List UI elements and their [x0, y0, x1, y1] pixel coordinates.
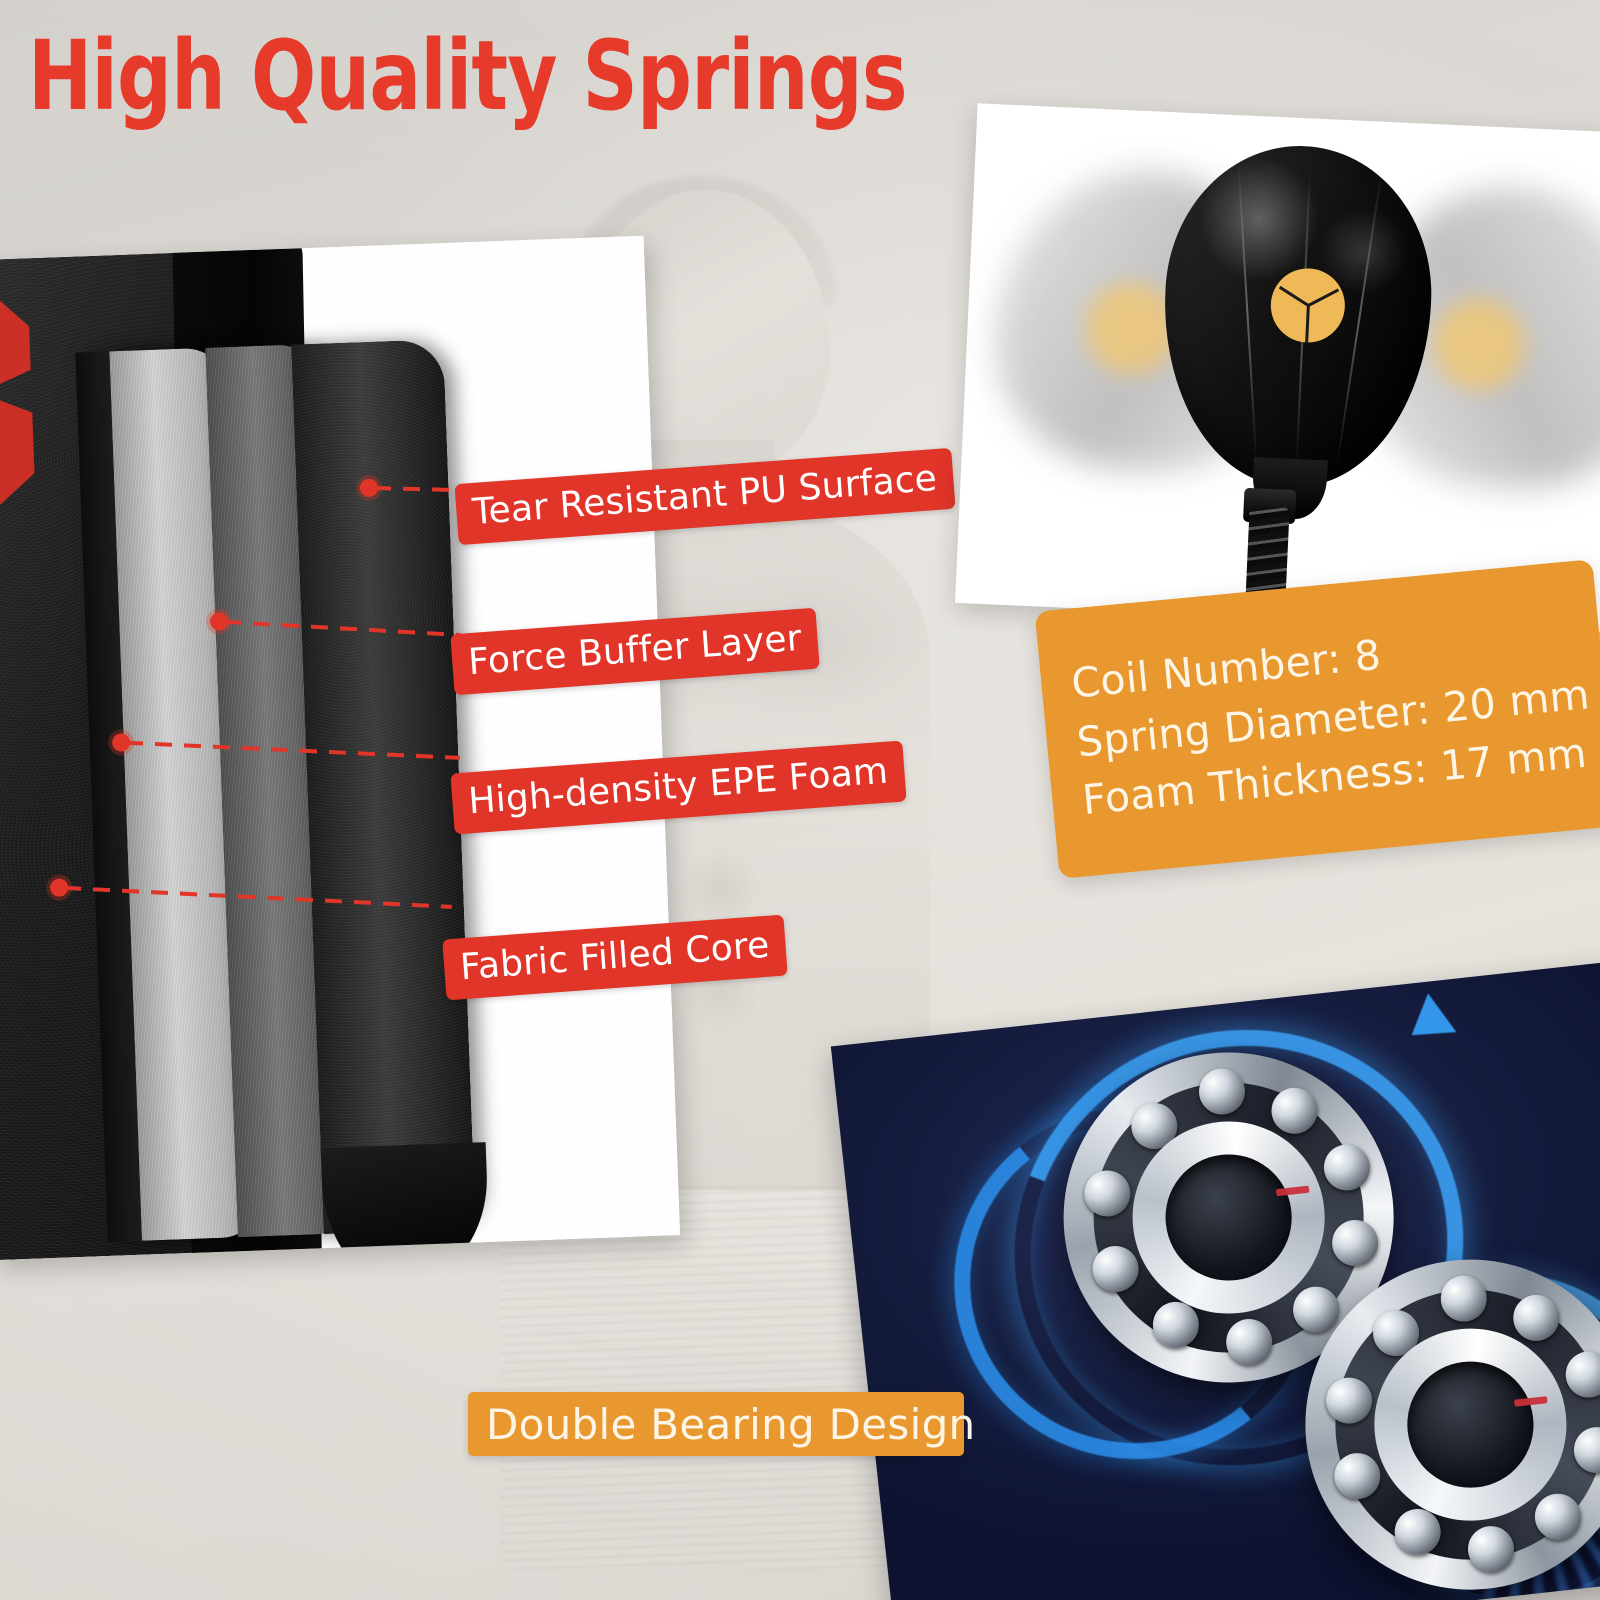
material-sheet-curl — [321, 1142, 491, 1260]
speed-bag-logo-icon — [1270, 267, 1347, 344]
ball-bearing-lower — [1289, 1243, 1600, 1600]
brand-logo-mark — [0, 292, 36, 510]
page-title: High Quality Springs — [28, 28, 907, 124]
layer-stack-photo-card — [0, 236, 680, 1261]
spec-panel: Coil Number: 8 Spring Diameter: 20 mm Fo… — [1035, 559, 1600, 879]
marketing-banner: High Quality Springs Tear Resistant PU S… — [0, 0, 1600, 1600]
bearing-photo-card — [831, 961, 1600, 1600]
punching-ball-photo-card — [955, 103, 1600, 632]
bottom-feature-label-text: Double Bearing Design — [486, 1400, 975, 1449]
arrow-head-icon — [1397, 993, 1456, 1054]
material-layer-pu-surface — [291, 339, 476, 1234]
bottom-feature-label: Double Bearing Design — [468, 1392, 964, 1456]
speed-bag-seam — [1238, 164, 1258, 463]
speed-bag-seam — [1336, 171, 1383, 467]
